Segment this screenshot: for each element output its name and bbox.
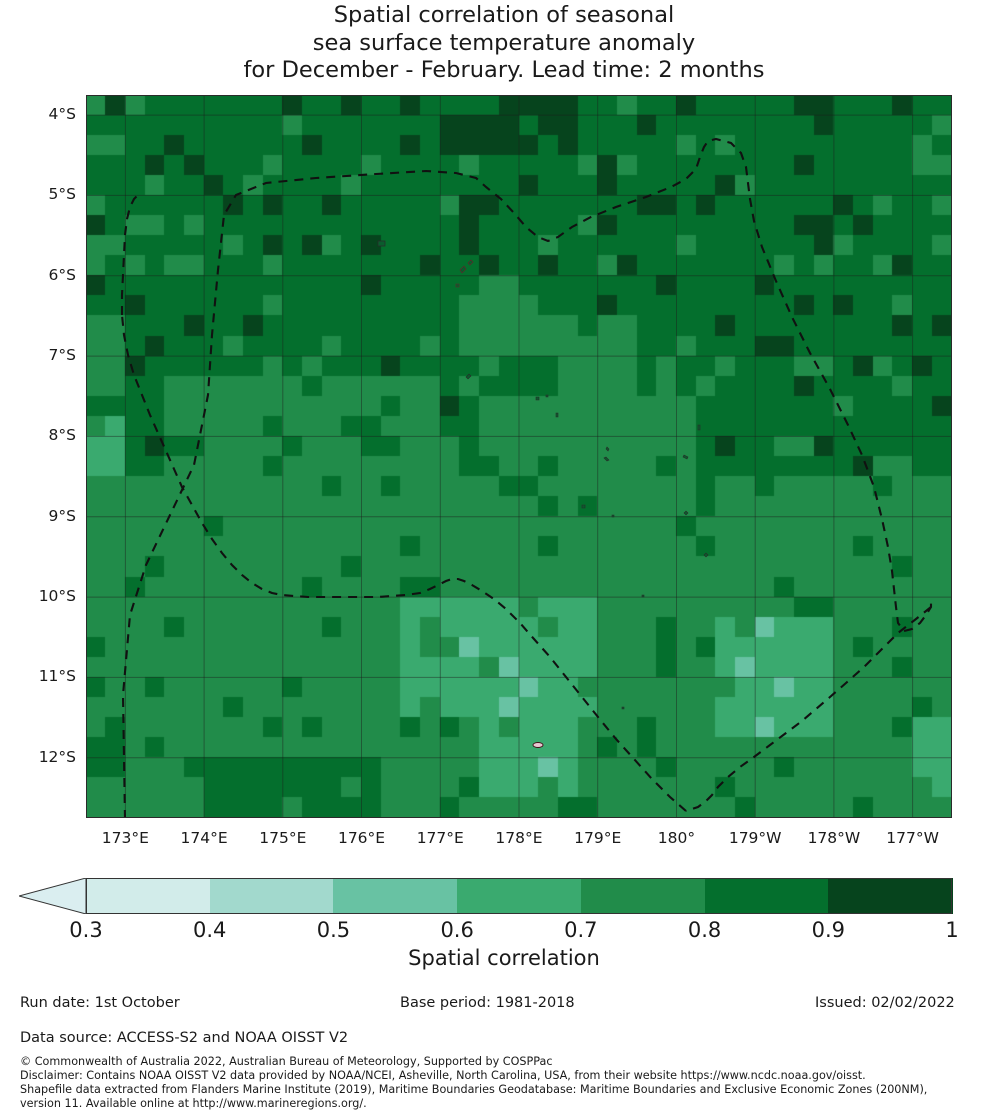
run-date-text: Run date: 1st October [20, 995, 180, 1011]
y-axis-tick-label: 8°S [0, 426, 76, 444]
colorbar-band [210, 878, 334, 914]
base-period-text: Base period: 1981-2018 [400, 995, 575, 1011]
colorbar-tick-label: 1 [912, 918, 992, 942]
y-axis-tick-label: 10°S [0, 587, 76, 605]
shapefile-text-line-1: Shapefile data extracted from Flanders M… [20, 1083, 927, 1096]
colorbar-tick-label: 0.9 [788, 918, 868, 942]
y-axis-tick-label: 9°S [0, 507, 76, 525]
colorbar-section: Spatial correlation 0.30.40.50.60.70.80.… [0, 868, 1008, 978]
copyright-text: © Commonwealth of Australia 2022, Austra… [20, 1055, 553, 1068]
data-source-text: Data source: ACCESS-S2 and NOAA OISST V2 [20, 1030, 348, 1046]
colorbar-tick-label: 0.4 [170, 918, 250, 942]
colorbar-band [828, 878, 952, 914]
colorbar-under-arrow [19, 878, 86, 914]
colorbar-tick-label: 0.3 [46, 918, 126, 942]
colorbar-tick-label: 0.8 [665, 918, 745, 942]
y-axis-tick-label: 6°S [0, 266, 76, 284]
shapefile-text-line-2: version 11. Available online at http://w… [20, 1097, 367, 1110]
y-axis-tick-label: 5°S [0, 185, 76, 203]
colorbar-title: Spatial correlation [0, 946, 1008, 970]
y-axis-tick-label: 12°S [0, 748, 76, 766]
colorbar-band [705, 878, 829, 914]
colorbar-tick-label: 0.5 [293, 918, 373, 942]
colorbar-band [86, 878, 210, 914]
colorbar-band [581, 878, 705, 914]
y-axis-tick-label: 4°S [0, 105, 76, 123]
y-axis-tick-label: 7°S [0, 346, 76, 364]
correlation-heatmap [86, 95, 952, 818]
issued-date-text: Issued: 02/02/2022 [815, 995, 955, 1011]
colorbar-tick-label: 0.6 [417, 918, 497, 942]
x-axis-tick-label: 177°W [863, 829, 963, 847]
colorbar-band [333, 878, 457, 914]
colorbar-tick-label: 0.7 [541, 918, 621, 942]
disclaimer-text: Disclaimer: Contains NOAA OISST V2 data … [20, 1069, 866, 1082]
heatmap-cells [86, 95, 952, 818]
colorbar-band [457, 878, 581, 914]
y-axis-tick-label: 11°S [0, 667, 76, 685]
colorbar-gradient[interactable] [86, 878, 952, 914]
